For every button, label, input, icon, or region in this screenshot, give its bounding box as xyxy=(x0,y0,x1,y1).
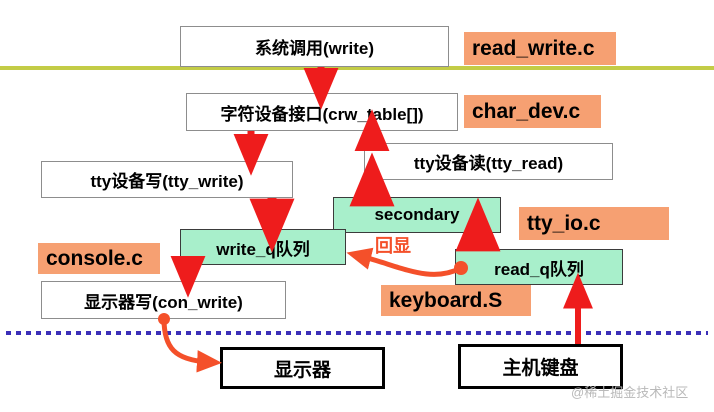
file-label-tty-io-c: tty_io.c xyxy=(519,207,669,240)
box-read-q-queue[interactable]: read_q队列 xyxy=(455,249,623,285)
box-char-device-interface-label: 字符设备接口(crw_table[]) xyxy=(220,100,423,125)
box-tty-read-label: tty设备读(tty_read) xyxy=(414,149,563,174)
arrow-conwrite-to-monitor xyxy=(158,313,208,362)
file-label-tty-io-c-text: tty_io.c xyxy=(527,212,601,236)
file-label-char-dev-c: char_dev.c xyxy=(464,95,601,128)
box-tty-write[interactable]: tty设备写(tty_write) xyxy=(41,161,293,198)
box-char-device-interface[interactable]: 字符设备接口(crw_table[]) xyxy=(186,93,458,131)
box-write-q-queue-label: write_q队列 xyxy=(216,235,310,260)
file-label-char-dev-c-text: char_dev.c xyxy=(472,100,580,124)
box-write-q-queue[interactable]: write_q队列 xyxy=(180,229,346,265)
box-monitor-hardware-label: 显示器 xyxy=(274,355,331,382)
file-label-console-c-text: console.c xyxy=(46,247,143,271)
watermark: @稀土掘金技术社区 xyxy=(571,382,688,401)
box-secondary-queue[interactable]: secondary xyxy=(333,197,501,233)
box-read-q-queue-label: read_q队列 xyxy=(494,255,584,280)
annotation-echo-text: 回显 xyxy=(375,236,411,256)
box-tty-write-label: tty设备写(tty_write) xyxy=(90,167,243,192)
box-syscall-label: 系统调用(write) xyxy=(255,34,374,59)
box-con-write[interactable]: 显示器写(con_write) xyxy=(41,281,286,319)
file-label-keyboard-s: keyboard.S xyxy=(381,285,531,316)
box-tty-read[interactable]: tty设备读(tty_read) xyxy=(364,143,613,180)
box-con-write-label: 显示器写(con_write) xyxy=(84,288,243,313)
box-keyboard-hardware-label: 主机键盘 xyxy=(502,353,578,380)
blue-dotted-divider-line xyxy=(6,331,708,335)
diagram-canvas: 系统调用(write) 字符设备接口(crw_table[]) tty设备写(t… xyxy=(0,0,714,412)
annotation-echo: 回显 xyxy=(375,232,411,258)
arrow-echo-readq-to-writeq xyxy=(360,256,468,275)
file-label-read-write-c: read_write.c xyxy=(464,32,616,65)
box-secondary-queue-label: secondary xyxy=(374,205,459,225)
file-label-read-write-c-text: read_write.c xyxy=(472,37,595,61)
file-label-console-c: console.c xyxy=(38,243,160,274)
box-monitor-hardware[interactable]: 显示器 xyxy=(220,347,385,389)
watermark-text: @稀土掘金技术社区 xyxy=(571,385,688,400)
box-syscall[interactable]: 系统调用(write) xyxy=(180,26,449,67)
file-label-keyboard-s-text: keyboard.S xyxy=(389,289,502,313)
